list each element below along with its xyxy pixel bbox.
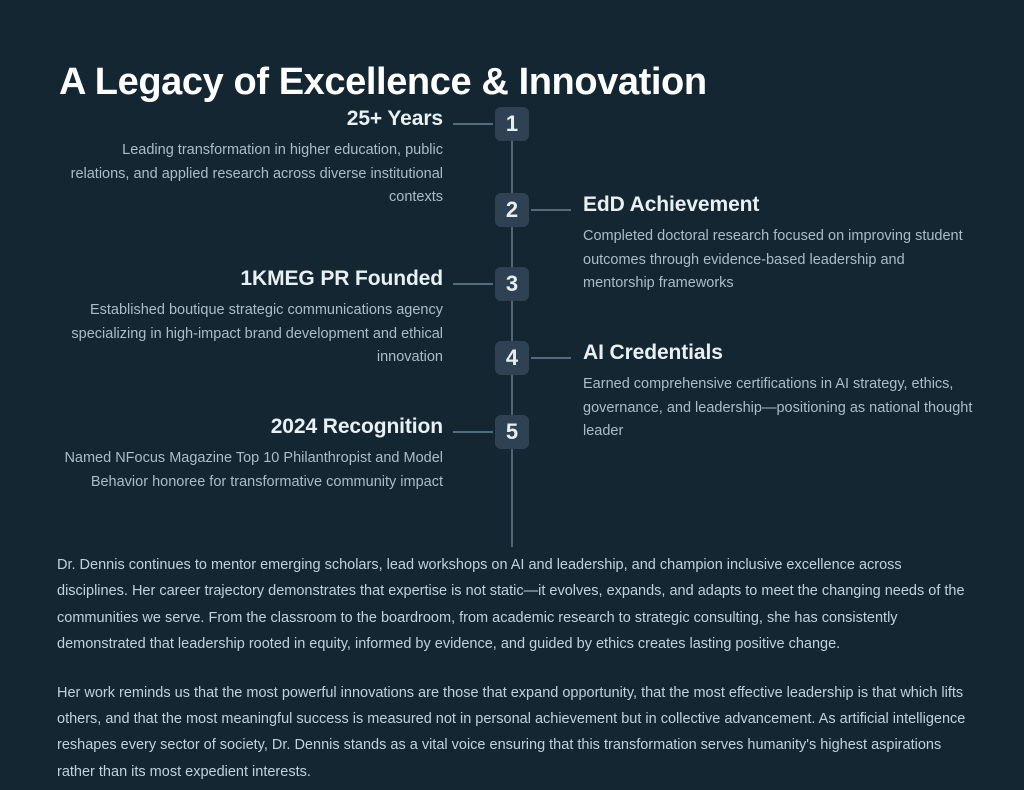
timeline-item-2-content: EdD Achievement Completed doctoral resea… bbox=[583, 193, 973, 296]
timeline-item-5-content: 2024 Recognition Named NFocus Magazine T… bbox=[60, 415, 443, 494]
timeline-item-3-description: Established boutique strategic communica… bbox=[60, 299, 443, 369]
timeline-axis-line bbox=[511, 112, 513, 547]
timeline-item-1-heading: 25+ Years bbox=[60, 107, 443, 130]
timeline: 25+ Years Leading transformation in high… bbox=[0, 100, 1024, 545]
timeline-item-2-heading: EdD Achievement bbox=[583, 193, 973, 216]
timeline-item-4-connector bbox=[531, 357, 571, 359]
timeline-item-2-badge[interactable]: 2 bbox=[495, 193, 529, 227]
timeline-item-1-connector bbox=[453, 123, 493, 125]
timeline-item-3-heading: 1KMEG PR Founded bbox=[60, 267, 443, 290]
summary-paragraph-1: Dr. Dennis continues to mentor emerging … bbox=[57, 552, 967, 658]
timeline-item-3-content: 1KMEG PR Founded Established boutique st… bbox=[60, 267, 443, 370]
infographic-page: A Legacy of Excellence & Innovation 25+ … bbox=[0, 0, 1024, 790]
timeline-item-4-description: Earned comprehensive certifications in A… bbox=[583, 373, 973, 443]
timeline-item-4-content: AI Credentials Earned comprehensive cert… bbox=[583, 341, 973, 444]
timeline-item-1-content: 25+ Years Leading transformation in high… bbox=[60, 107, 443, 210]
timeline-item-1-description: Leading transformation in higher educati… bbox=[60, 139, 443, 209]
timeline-item-5-description: Named NFocus Magazine Top 10 Philanthrop… bbox=[60, 447, 443, 494]
timeline-item-5-badge[interactable]: 5 bbox=[495, 415, 529, 449]
timeline-item-1-badge[interactable]: 1 bbox=[495, 107, 529, 141]
timeline-item-5-connector bbox=[453, 431, 493, 433]
summary-paragraph-2: Her work reminds us that the most powerf… bbox=[57, 680, 967, 786]
timeline-item-3-badge[interactable]: 3 bbox=[495, 267, 529, 301]
timeline-item-5-heading: 2024 Recognition bbox=[60, 415, 443, 438]
summary-prose: Dr. Dennis continues to mentor emerging … bbox=[57, 552, 967, 785]
timeline-item-3-connector bbox=[453, 283, 493, 285]
timeline-item-4-heading: AI Credentials bbox=[583, 341, 973, 364]
timeline-item-2-description: Completed doctoral research focused on i… bbox=[583, 225, 973, 295]
page-title: A Legacy of Excellence & Innovation bbox=[59, 61, 707, 104]
timeline-item-2-connector bbox=[531, 209, 571, 211]
timeline-item-4-badge[interactable]: 4 bbox=[495, 341, 529, 375]
